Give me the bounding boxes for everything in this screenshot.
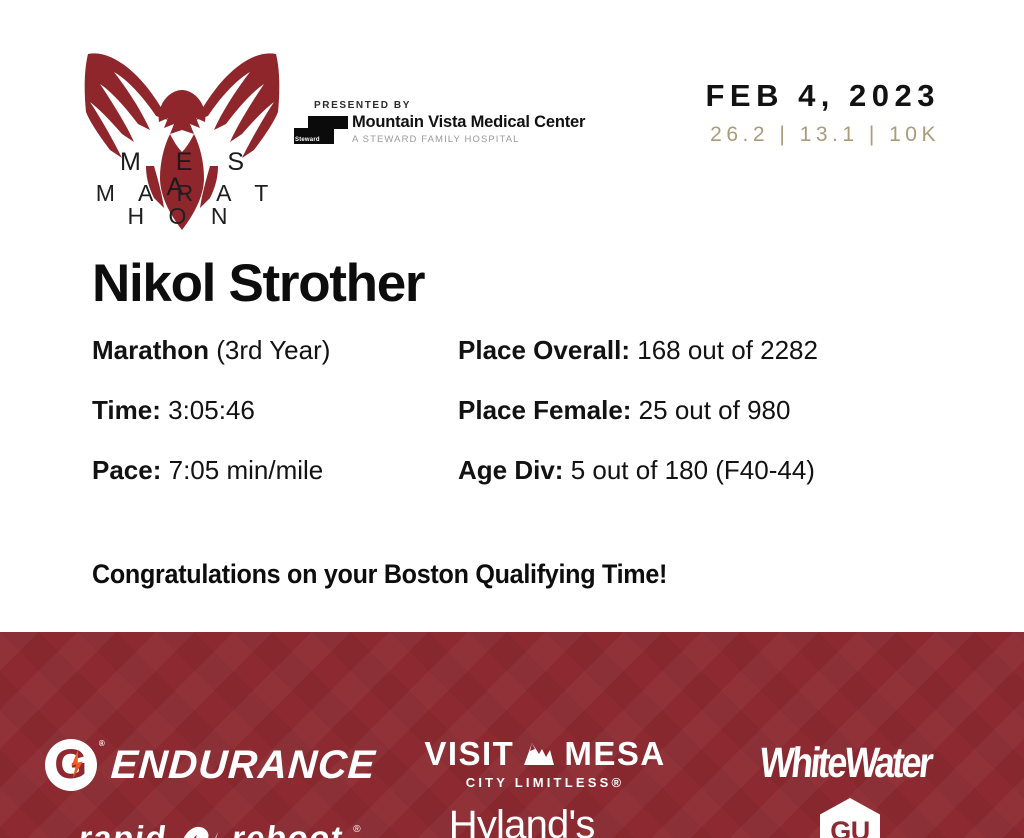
stats-column-right: Place Overall: 168 out of 2282 Place Fem…	[458, 337, 978, 517]
sponsor-logo-grid: G ® ENDURANCE VISIT MESA CITY LIMITLESS®	[0, 632, 1024, 838]
race-date-block: FEB 4, 2023 26.2 | 13.1 | 10K	[705, 80, 940, 145]
race-distances: 26.2 | 13.1 | 10K	[705, 124, 940, 145]
stats-column-left: Marathon (3rd Year) Time: 3:05:46 Pace: …	[92, 337, 452, 517]
sponsor-name: Mountain Vista Medical Center	[352, 114, 585, 131]
stat-place-female-value: 25 out of 980	[639, 395, 791, 425]
stat-age-div-value: 5 out of 180 (F40-44)	[571, 455, 815, 485]
logo-text-marathon: M A R A T H O N	[78, 182, 286, 228]
stat-event-value: (3rd Year)	[216, 335, 330, 365]
congratulations-message: Congratulations on your Boston Qualifyin…	[92, 559, 667, 590]
sponsor-tagline: A STEWARD FAMILY HOSPITAL	[352, 134, 585, 145]
presented-by-label: PRESENTED BY	[314, 100, 574, 111]
stat-time-value: 3:05:46	[168, 395, 255, 425]
certificate-header: M E S A M A R A T H O N PRESENTED BY Ste…	[0, 0, 1024, 240]
stat-place-female-label: Place Female:	[458, 395, 631, 425]
sponsor-hylands: Hyland's NATURALS™	[415, 730, 675, 838]
presented-by-block: PRESENTED BY Steward Mountain Vista Medi…	[294, 100, 574, 146]
stat-place-female: Place Female: 25 out of 980	[458, 397, 978, 423]
rapid-reboot-word1: rapid	[77, 821, 170, 838]
steward-mark-text: Steward	[295, 137, 320, 143]
mesa-marathon-logo: M E S A M A R A T H O N	[84, 38, 280, 234]
steward-logo-icon: Steward	[294, 116, 348, 146]
stat-time: Time: 3:05:46	[92, 397, 452, 423]
stat-pace: Pace: 7:05 min/mile	[92, 457, 452, 483]
rapid-reboot-word2: reboot	[229, 821, 345, 838]
stat-pace-value: 7:05 min/mile	[169, 455, 324, 485]
race-date: FEB 4, 2023	[705, 80, 940, 111]
sponsor-gu: GU ™	[780, 728, 920, 838]
results-section: Nikol Strother Marathon (3rd Year) Time:…	[0, 255, 1024, 337]
hylands-name: Hyland's	[449, 805, 641, 838]
stat-event-label: Marathon	[92, 335, 209, 365]
swirl-icon	[178, 820, 222, 838]
rapid-reboot-registered-icon: ®	[353, 824, 360, 835]
stat-pace-label: Pace:	[92, 455, 161, 485]
stat-place-overall-label: Place Overall:	[458, 335, 630, 365]
stat-place-overall-value: 168 out of 2282	[637, 335, 818, 365]
stat-time-label: Time:	[92, 395, 161, 425]
gu-hexagon-icon: GU ™	[820, 798, 880, 838]
stat-event: Marathon (3rd Year)	[92, 337, 452, 363]
stat-place-overall: Place Overall: 168 out of 2282	[458, 337, 978, 363]
runner-name: Nikol Strother	[92, 255, 1024, 313]
stat-age-div-label: Age Div:	[458, 455, 563, 485]
gu-text: GU	[830, 818, 870, 838]
sponsor-footer: G ® ENDURANCE VISIT MESA CITY LIMITLESS®	[0, 632, 1024, 838]
gu-trademark-icon: ™	[881, 800, 889, 809]
sponsor-rapid-reboot: rapid reboot ®	[70, 734, 370, 838]
stat-age-div: Age Div: 5 out of 180 (F40-44)	[458, 457, 978, 483]
